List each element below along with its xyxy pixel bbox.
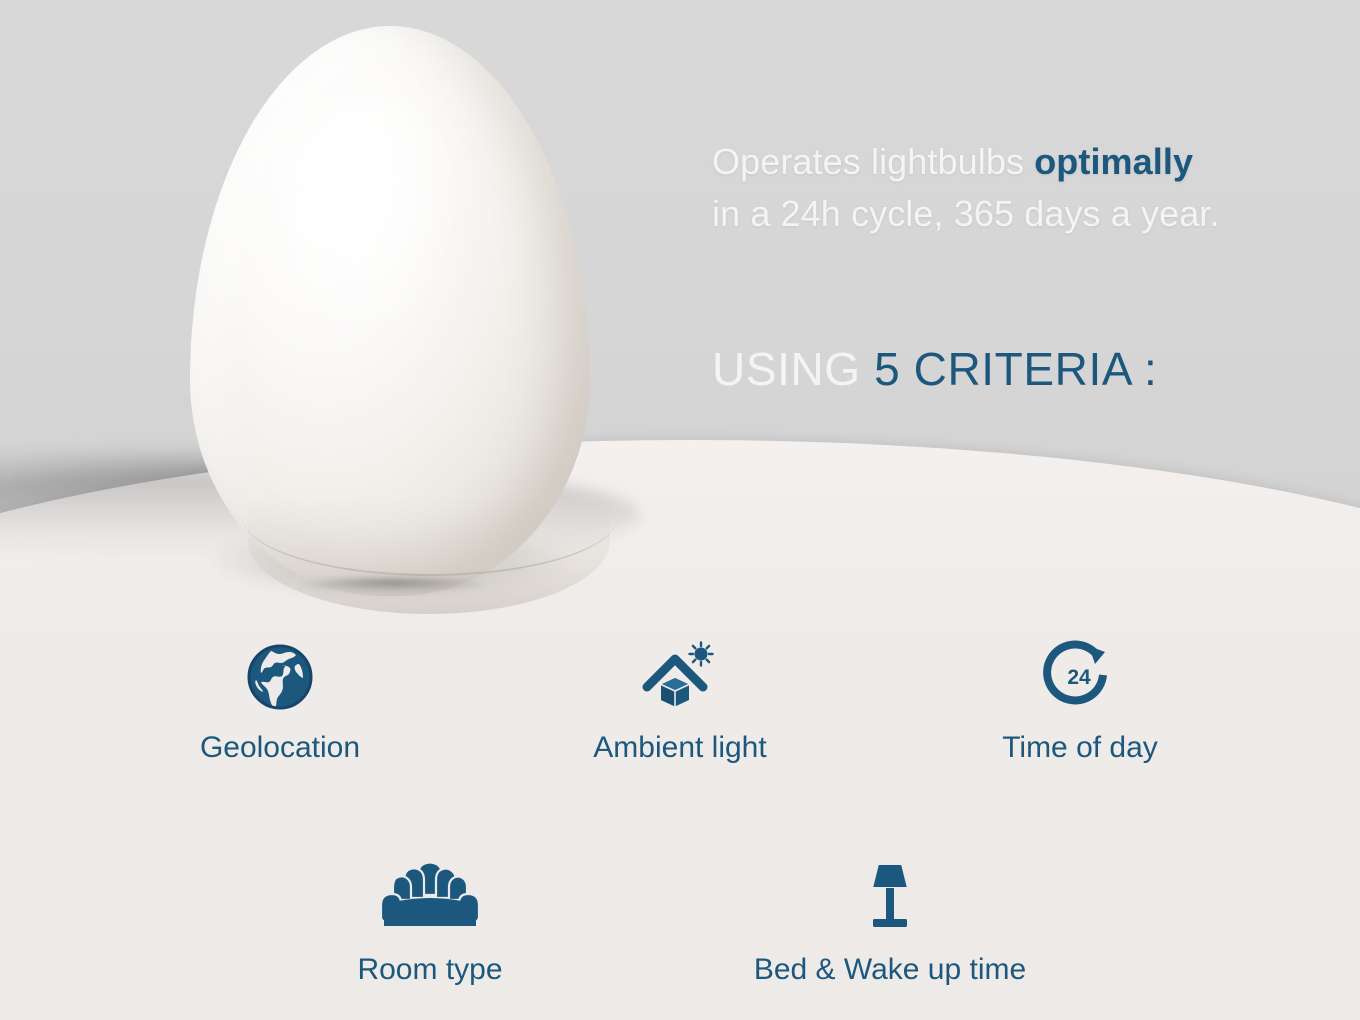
egg-contact-shadow [298, 578, 488, 592]
sun-glyph [690, 643, 713, 666]
criteria-row-2: Room type Bed & Wake up time [0, 862, 1360, 988]
floor-lamp-icon [860, 862, 920, 932]
criteria-list: Geolocation [0, 640, 1360, 988]
criteria-label-room-type: Room type [357, 952, 502, 988]
lamp-base [873, 919, 907, 927]
lamp-pole [886, 888, 894, 920]
criteria-label-time-of-day: Time of day [1002, 730, 1158, 766]
headline-block: Operates lightbulbs optimally in a 24h c… [712, 136, 1312, 240]
arrow-head [1089, 646, 1105, 664]
clock-badge-24: 24 [1067, 666, 1091, 689]
product-image [150, 8, 630, 608]
criteria-row-1: Geolocation [0, 640, 1360, 766]
headline-line2: in a 24h cycle, 365 days a year. [712, 193, 1220, 234]
clock-24h-icon: 24 [1045, 640, 1115, 710]
sofa-icon [378, 862, 482, 932]
box-glyph [661, 678, 689, 707]
promo-scene: Operates lightbulbs optimally in a 24h c… [0, 0, 1360, 1020]
criteria-label-ambient-light: Ambient light [593, 730, 766, 766]
globe-icon [247, 640, 313, 710]
lamp-shade [872, 864, 908, 888]
criteria-title-plain: USING [712, 343, 874, 395]
criteria-item-time-of-day[interactable]: 24 Time of day [975, 640, 1185, 766]
criteria-item-room-type[interactable]: Room type [325, 862, 535, 988]
egg-body [190, 26, 590, 596]
criteria-item-ambient-light[interactable]: Ambient light [575, 640, 785, 766]
criteria-item-geolocation[interactable]: Geolocation [175, 640, 385, 766]
house-sun-icon [644, 640, 716, 710]
headline-text: Operates lightbulbs optimally in a 24h c… [712, 136, 1312, 240]
headline-line1-accent: optimally [1034, 141, 1193, 182]
criteria-item-bed-wake[interactable]: Bed & Wake up time [725, 862, 1055, 988]
criteria-label-bed-wake: Bed & Wake up time [754, 952, 1026, 988]
criteria-label-geolocation: Geolocation [200, 730, 360, 766]
egg-seam-line [242, 446, 618, 576]
egg-specular-highlight [286, 96, 466, 346]
criteria-title-accent: 5 CRITERIA : [874, 343, 1157, 395]
headline-line1-plain: Operates lightbulbs [712, 141, 1034, 182]
criteria-title: USING 5 CRITERIA : [712, 340, 1157, 398]
